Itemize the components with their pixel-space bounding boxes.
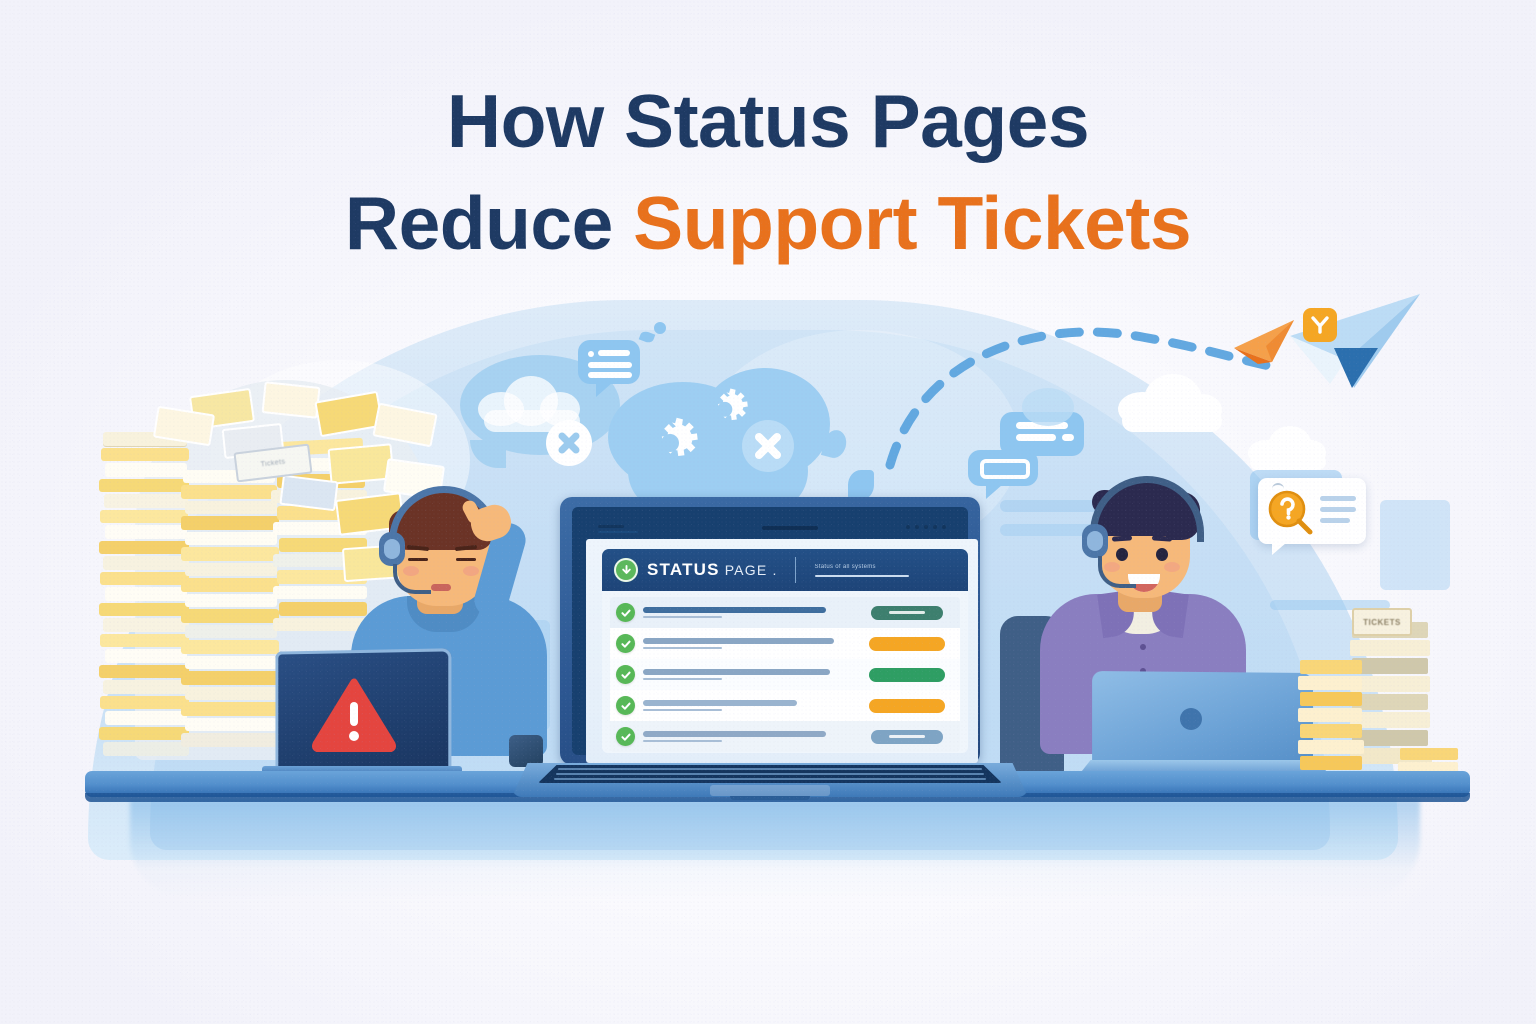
status-row-label-bars xyxy=(643,669,851,681)
pile-label-text: Tickets xyxy=(260,458,285,468)
header-divider xyxy=(795,557,796,583)
download-arrow-icon xyxy=(614,558,638,582)
paper-plane-icon xyxy=(1282,284,1432,400)
illustration-canvas: Tickets xyxy=(0,0,1536,1024)
status-page-header: STATUS PAGE . Status of all systems xyxy=(602,549,968,591)
status-row-title-bar xyxy=(643,638,834,644)
error-x-circle-icon xyxy=(546,420,592,466)
status-row-subtitle-bar xyxy=(643,678,722,681)
eye-closed xyxy=(456,558,476,561)
mouth xyxy=(431,584,451,591)
ticket-stack-label: TICKETS xyxy=(1352,608,1412,636)
status-page-subtitle: PAGE . xyxy=(725,562,778,578)
status-pill[interactable] xyxy=(871,730,943,744)
cheek xyxy=(463,566,479,576)
status-pill-cell xyxy=(859,606,954,620)
status-row-title-bar xyxy=(643,669,830,675)
status-table xyxy=(610,597,960,752)
x-circle-icon xyxy=(742,420,794,472)
status-row[interactable] xyxy=(610,721,960,752)
background-doc-card xyxy=(1380,500,1450,590)
bezel-mark xyxy=(598,525,624,528)
status-row-title-bar xyxy=(643,607,826,613)
help-card-line xyxy=(1320,496,1356,501)
status-row-label-bars xyxy=(643,700,851,712)
status-row-subtitle-bar xyxy=(643,616,722,619)
status-row[interactable] xyxy=(610,597,960,628)
decor-leaf xyxy=(848,470,874,500)
plane-badge-icon xyxy=(1303,308,1337,342)
headset-mic-boom xyxy=(1098,556,1136,588)
help-card-line xyxy=(1320,518,1350,523)
check-circle-icon xyxy=(616,603,635,622)
status-pill-inner-bar xyxy=(889,611,925,614)
status-pill[interactable] xyxy=(869,699,945,713)
status-page-meta-text: Status of all systems xyxy=(815,564,909,570)
chat-line xyxy=(588,372,632,378)
camera-strip xyxy=(762,526,818,530)
status-pill-cell xyxy=(859,637,954,651)
status-row[interactable] xyxy=(610,690,960,721)
status-pill[interactable] xyxy=(869,637,945,651)
status-page-title: STATUS xyxy=(647,560,720,580)
help-card-line xyxy=(1320,507,1356,512)
status-pill-cell xyxy=(859,730,954,744)
check-circle-icon xyxy=(616,727,635,746)
status-pill[interactable] xyxy=(869,668,945,682)
status-row-title-bar xyxy=(643,731,826,737)
status-row-label-bars xyxy=(643,638,851,650)
laptop-screen: STATUS PAGE . Status of all systems xyxy=(586,539,978,763)
eye xyxy=(1156,548,1168,561)
headset-earcup-inner xyxy=(384,539,400,559)
status-row-title-bar xyxy=(643,700,797,706)
bezel-dots xyxy=(906,525,946,529)
laptop-logo xyxy=(1180,708,1202,730)
status-page-meta-underline xyxy=(815,575,909,577)
laptop-bezel: STATUS PAGE . Status of all systems xyxy=(572,507,968,755)
headset-earcup-inner xyxy=(1087,531,1103,551)
decor-dot xyxy=(654,322,666,334)
status-row[interactable] xyxy=(610,659,960,690)
laptop-trackpad[interactable] xyxy=(710,785,830,796)
bezel-mark xyxy=(598,531,638,533)
eye-closed xyxy=(408,558,428,561)
status-pill-cell xyxy=(859,699,954,713)
shirt-button xyxy=(1140,644,1146,650)
page-title-accent: Support Tickets xyxy=(633,181,1191,265)
laptop-keyboard xyxy=(538,765,1002,783)
ticket-stack-label-text: TICKETS xyxy=(1363,618,1401,627)
page-title-line1: How Status Pages xyxy=(0,84,1536,159)
laptop-front-notch xyxy=(730,796,810,800)
status-page-laptop: STATUS PAGE . Status of all systems xyxy=(560,497,980,797)
page-title-line2: Reduce Support Tickets xyxy=(0,186,1536,261)
desk-device xyxy=(509,735,543,767)
chat-line xyxy=(588,362,632,368)
check-circle-icon xyxy=(616,665,635,684)
question-magnifier-icon xyxy=(1266,490,1314,536)
help-faq-card xyxy=(1258,478,1366,544)
status-row-label-bars xyxy=(643,731,851,743)
page-title-prefix: Reduce xyxy=(345,181,633,265)
right-laptop-lid xyxy=(1092,671,1313,765)
help-card-notch xyxy=(1272,483,1284,493)
chat-line xyxy=(598,350,630,356)
cheek xyxy=(1164,562,1180,572)
status-row-subtitle-bar xyxy=(643,709,722,712)
headset-mic-boom xyxy=(393,564,431,594)
status-row-label-bars xyxy=(643,607,851,619)
status-pill-inner-bar xyxy=(889,735,925,738)
status-page-body xyxy=(602,591,968,753)
bullet-dot xyxy=(588,351,594,357)
status-row-subtitle-bar xyxy=(643,740,722,743)
status-row[interactable] xyxy=(610,628,960,659)
check-circle-icon xyxy=(616,634,635,653)
status-row-subtitle-bar xyxy=(643,647,722,650)
status-pill[interactable] xyxy=(871,606,943,620)
status-pill-cell xyxy=(859,668,954,682)
check-circle-icon xyxy=(616,696,635,715)
right-laptop xyxy=(1088,672,1324,780)
warning-triangle-icon xyxy=(312,678,396,752)
status-page-meta: Status of all systems xyxy=(815,564,909,577)
desk-reflection xyxy=(130,800,1420,900)
